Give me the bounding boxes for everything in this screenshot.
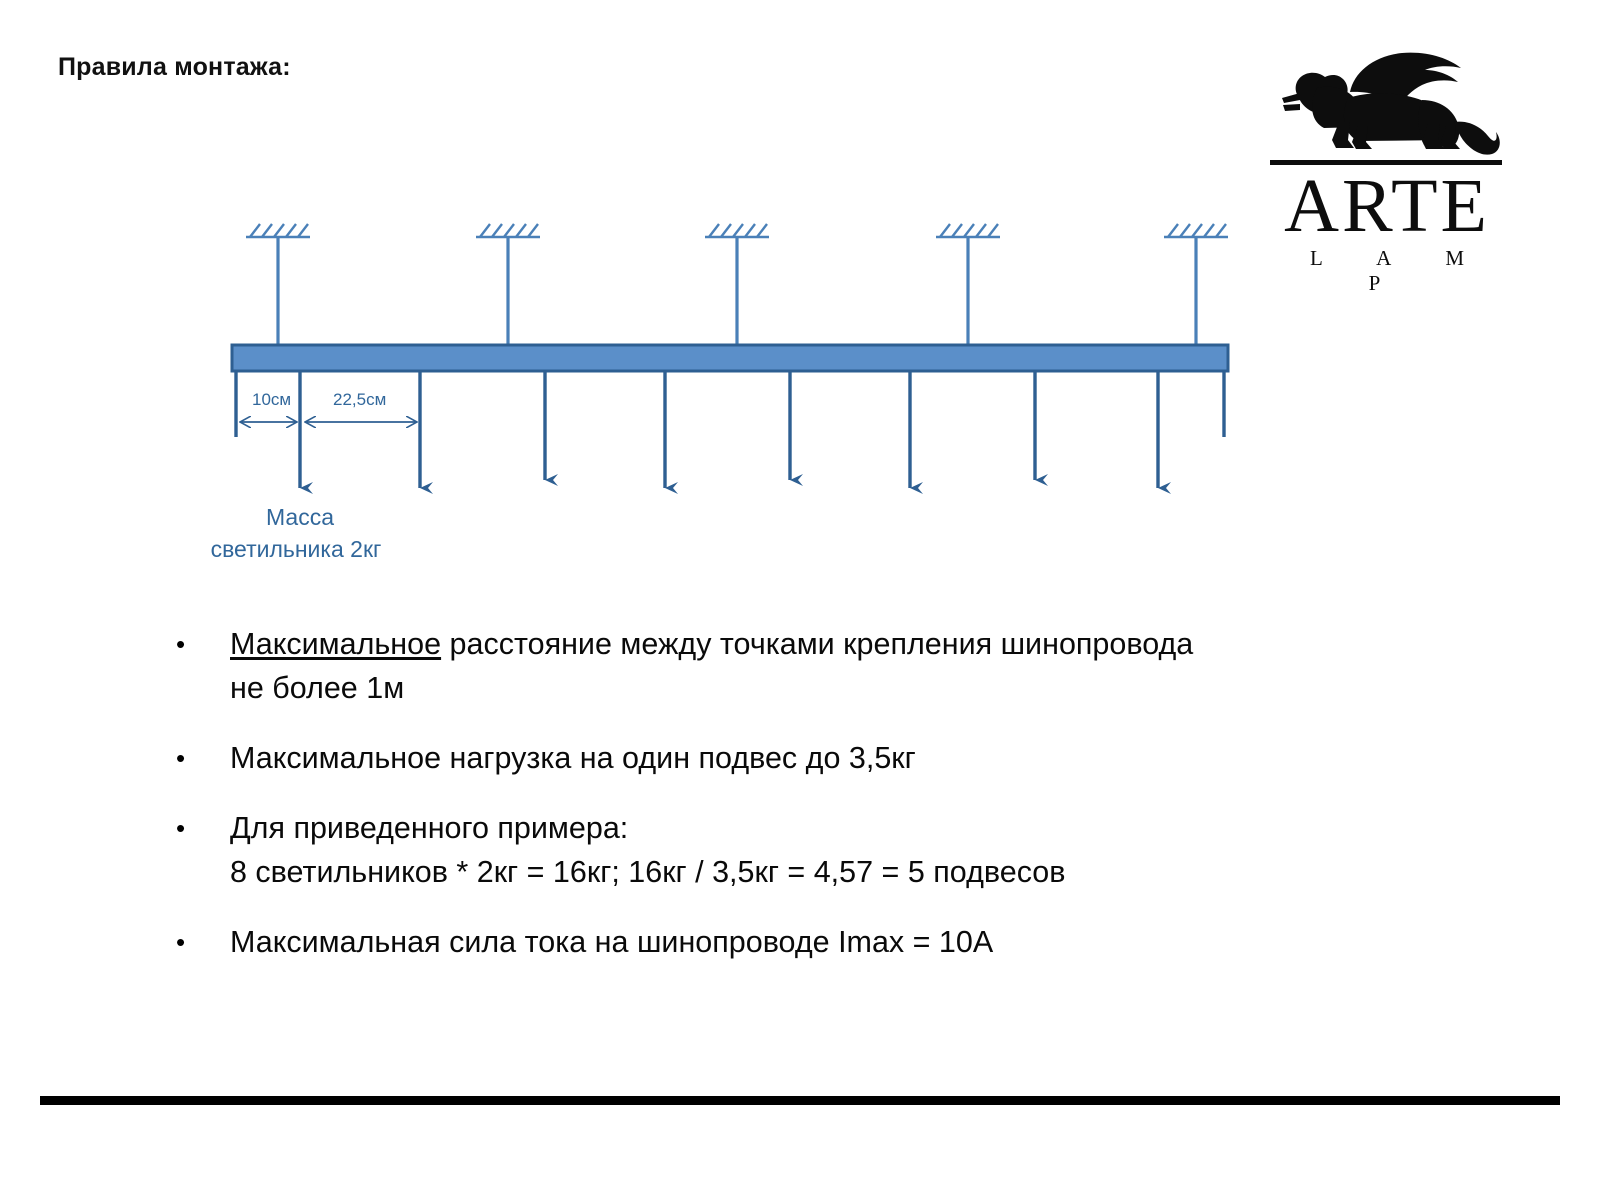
mass-label-line2: светильника 2кг [211,536,382,562]
dimension-label: 22,5см [333,390,386,409]
list-item: • Максимальное расстояние между точками … [168,622,1468,710]
footer-divider-rule [40,1096,1560,1105]
list-item-line: не более 1м [230,666,1468,710]
list-item: • Для приведенного примера: 8 светильник… [168,806,1468,894]
list-item-text: Максимальная сила тока на шинопроводе Im… [230,920,1468,964]
list-item-text: Для приведенного примера: 8 светильников… [230,806,1468,894]
dimension-10cm: 10см [240,390,297,422]
list-item-line: Для приведенного примера: [230,806,1468,850]
rules-bullet-list: • Максимальное расстояние между точками … [168,622,1468,990]
dimension-label: 10см [252,390,291,409]
slide-canvas: Правила монтажа: [0,0,1600,1200]
list-item: • Максимальная сила тока на шинопроводе … [168,920,1468,964]
ceiling-mount-group [246,224,1228,347]
line-rest: расстояние между точками крепления шиноп… [441,627,1193,661]
list-item: • Максимальное нагрузка на один подвес д… [168,736,1468,780]
ceiling-mount-icon [476,224,540,347]
list-item-text: Максимальное расстояние между точками кр… [230,622,1468,710]
emphasis-text: Максимальное [230,627,441,661]
ceiling-mount-icon [246,224,310,347]
dimension-22-5cm: 22,5см [305,390,417,422]
mass-label-line1: Масса [266,504,334,530]
list-item-line: Максимальное расстояние между точками кр… [230,622,1468,666]
ceiling-mount-icon [705,224,769,347]
bullet-marker: • [168,806,230,850]
list-item-line: 8 светильников * 2кг = 16кг; 16кг / 3,5к… [230,850,1468,894]
bullet-marker: • [168,736,230,780]
bullet-marker: • [168,920,230,964]
ceiling-mount-icon [936,224,1000,347]
busbar-track [232,345,1228,371]
bullet-marker: • [168,622,230,666]
list-item-line: Максимальная сила тока на шинопроводе Im… [230,920,1468,964]
list-item-line: Максимальное нагрузка на один подвес до … [230,736,1468,780]
track-busbar-mounting-diagram: 10см 22,5см Масса светильника 2кг [0,0,1600,600]
ceiling-mount-icon [1164,224,1228,347]
lamp-load-arrows [300,371,1158,488]
list-item-text: Максимальное нагрузка на один подвес до … [230,736,1468,780]
